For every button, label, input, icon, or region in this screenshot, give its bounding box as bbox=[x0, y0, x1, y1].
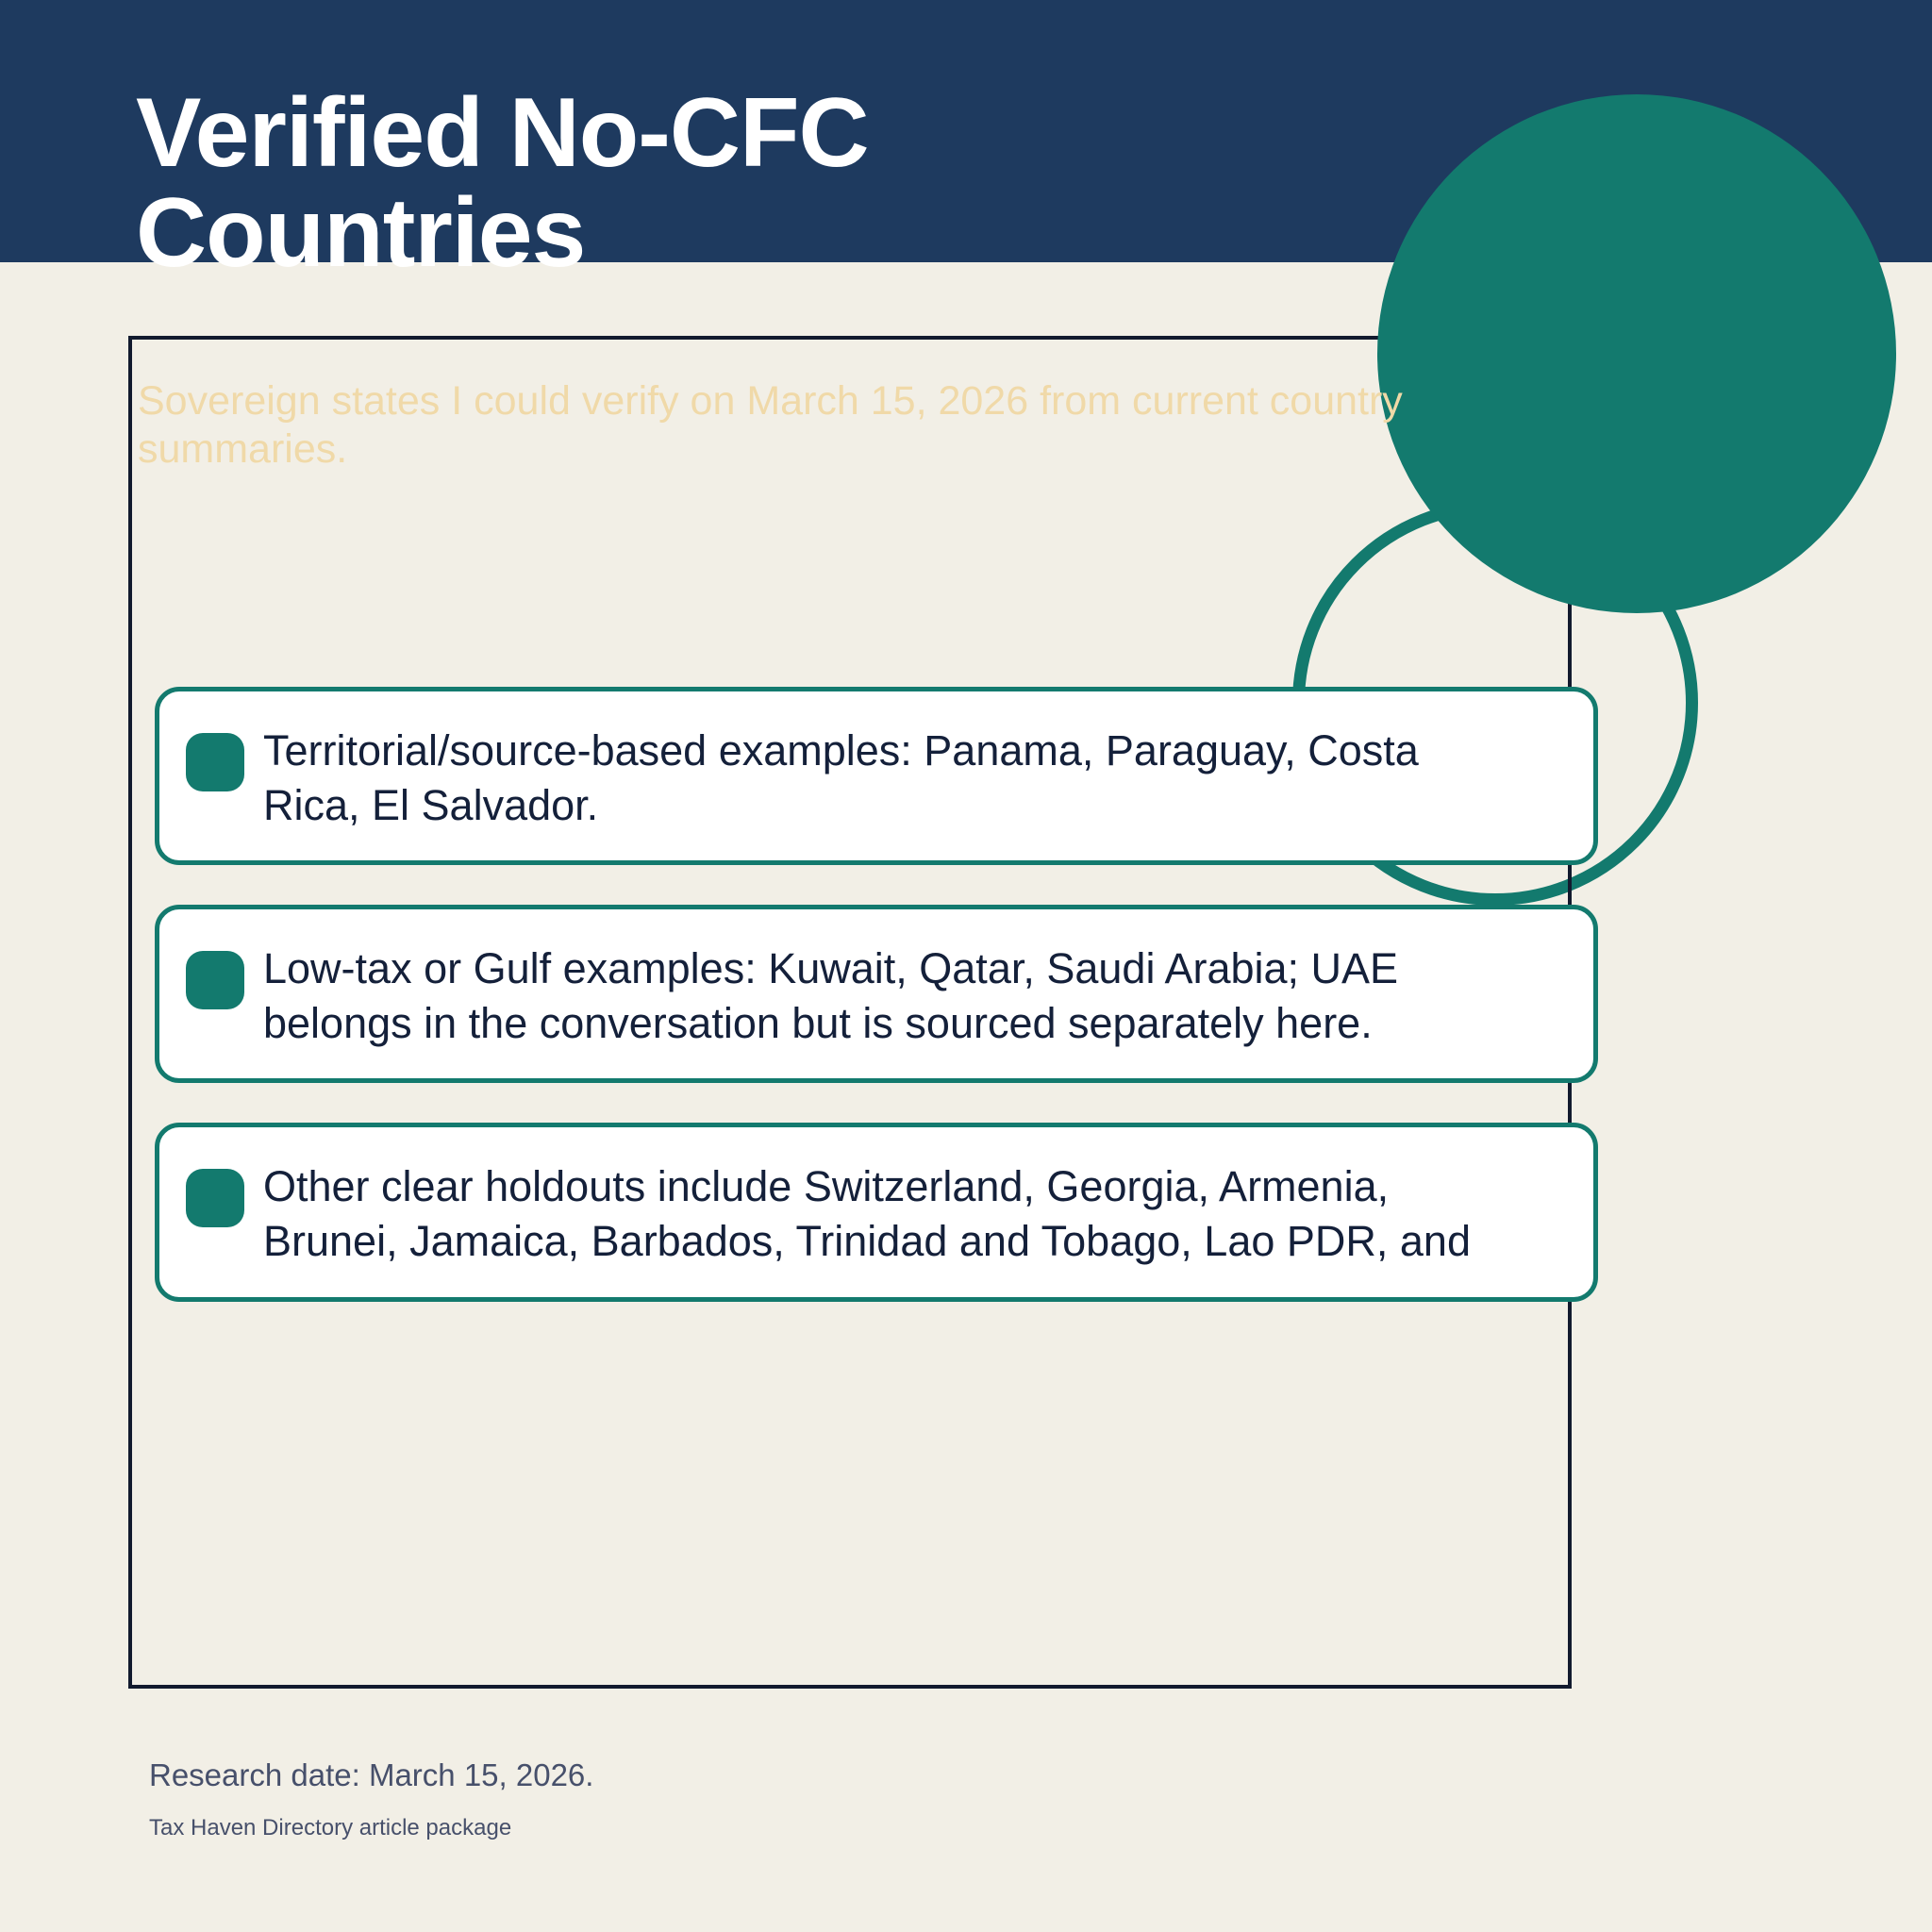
list-item[interactable]: Other clear holdouts include Switzerland… bbox=[155, 1123, 1598, 1301]
research-date: Research date: March 15, 2026. bbox=[149, 1757, 593, 1794]
bullet-card-list: Territorial/source-based examples: Panam… bbox=[155, 687, 1598, 1341]
list-item-text: Other clear holdouts include Switzerland… bbox=[263, 1159, 1565, 1268]
list-item-line: Other clear holdouts include Switzerland… bbox=[263, 1159, 1565, 1214]
square-bullet-icon bbox=[186, 733, 244, 791]
list-item-text: Low-tax or Gulf examples: Kuwait, Qatar,… bbox=[263, 941, 1565, 1050]
page-subtitle: Sovereign states I could verify on March… bbox=[138, 377, 1572, 473]
infographic-canvas: Verified No-CFC Countries Sovereign stat… bbox=[0, 0, 1932, 1932]
list-item-line: Brunei, Jamaica, Barbados, Trinidad and … bbox=[263, 1214, 1565, 1269]
list-item-text: Territorial/source-based examples: Panam… bbox=[263, 724, 1565, 832]
source-label: Tax Haven Directory article package bbox=[149, 1815, 593, 1842]
list-item-line: belongs in the conversation but is sourc… bbox=[263, 996, 1565, 1051]
square-bullet-icon bbox=[186, 951, 244, 1009]
list-item-line: Territorial/source-based examples: Panam… bbox=[263, 724, 1565, 778]
page-title: Verified No-CFC Countries bbox=[136, 83, 1079, 283]
teal-filled-circle-decoration-icon bbox=[1377, 94, 1896, 613]
list-item[interactable]: Low-tax or Gulf examples: Kuwait, Qatar,… bbox=[155, 905, 1598, 1083]
footer: Research date: March 15, 2026. Tax Haven… bbox=[149, 1757, 593, 1841]
list-item[interactable]: Territorial/source-based examples: Panam… bbox=[155, 687, 1598, 865]
square-bullet-icon bbox=[186, 1169, 244, 1227]
list-item-line: Rica, El Salvador. bbox=[263, 778, 1565, 833]
list-item-line: Low-tax or Gulf examples: Kuwait, Qatar,… bbox=[263, 941, 1565, 996]
